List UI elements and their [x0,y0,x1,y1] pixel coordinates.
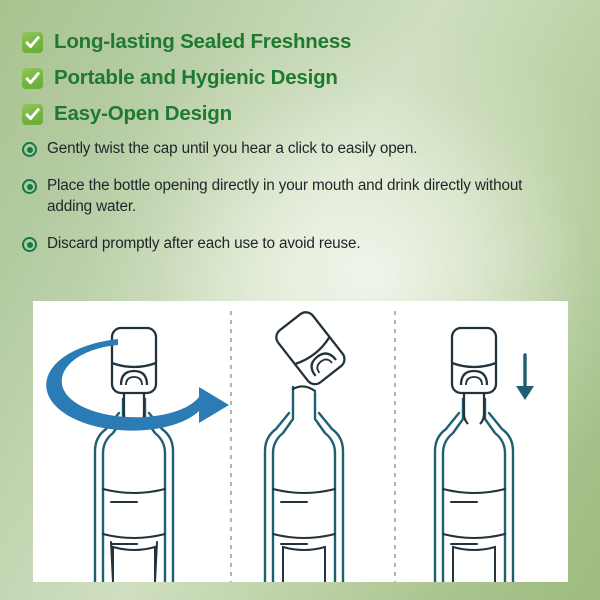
twist-cap-step [46,328,229,582]
usage-step-list: Gently twist the cap until you hear a cl… [22,139,578,271]
feature-headline-item: Easy-Open Design [22,98,582,130]
feature-headline-label: Long-lasting Sealed Freshness [54,30,351,54]
usage-step-item: Gently twist the cap until you hear a cl… [22,139,578,159]
bottle-neck [464,392,484,424]
bottle-body-bands [103,489,165,582]
cap-removed-step [265,309,348,582]
check-square-icon [22,32,43,53]
check-square-icon [22,68,43,89]
press-cap-step [435,328,534,582]
illustration-panel [33,301,568,582]
usage-step-label: Place the bottle opening directly in you… [47,176,552,217]
bottle-body-bands [443,489,505,582]
usage-step-label: Gently twist the cap until you hear a cl… [47,139,417,159]
feature-headline-item: Portable and Hygienic Design [22,62,582,94]
radio-target-icon [22,179,37,194]
usage-step-item: Place the bottle opening directly in you… [22,176,578,217]
bottle-body-bands [273,489,335,582]
feature-headline-label: Easy-Open Design [54,102,232,126]
bottle-cap [112,328,156,393]
bottle-open [265,387,343,582]
usage-step-item: Discard promptly after each use to avoid… [22,234,578,254]
bottle-cap [452,328,496,393]
product-instruction-graphic: Long-lasting Sealed Freshness Portable a… [0,0,600,600]
detached-cap [273,309,348,388]
usage-step-label: Discard promptly after each use to avoid… [47,234,361,254]
bottle-mouth-rim [293,386,315,391]
check-square-icon [22,104,43,125]
instruction-illustrations [33,301,568,582]
radio-target-icon [22,237,37,252]
radio-target-icon [22,142,37,157]
feature-headline-item: Long-lasting Sealed Freshness [22,26,582,58]
feature-headline-label: Portable and Hygienic Design [54,66,338,90]
feature-headline-list: Long-lasting Sealed Freshness Portable a… [22,26,582,134]
down-arrow-icon [516,355,534,400]
